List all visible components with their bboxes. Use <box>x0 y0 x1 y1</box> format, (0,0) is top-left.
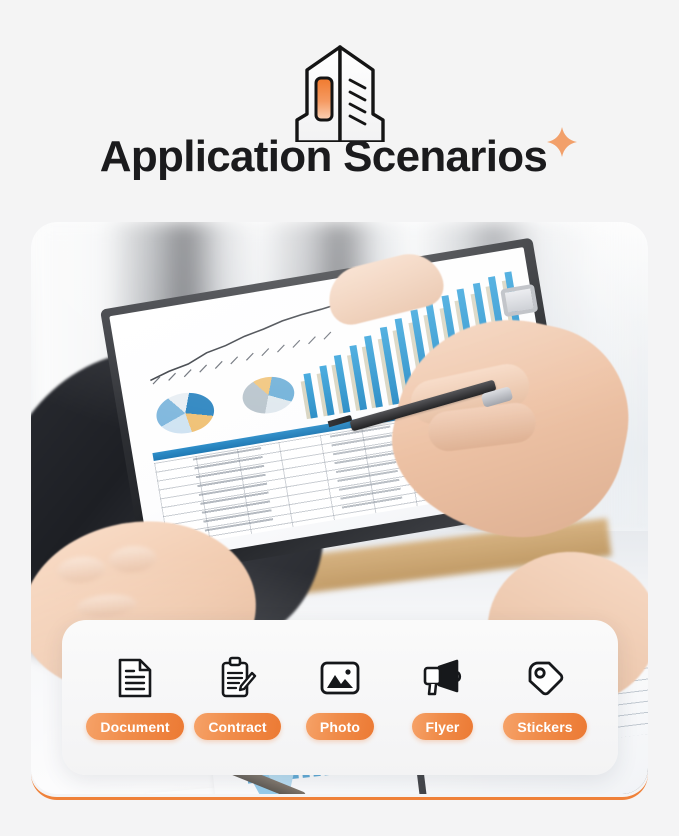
clipboard-pen-icon <box>219 655 257 701</box>
category-pill-stickers[interactable]: Stickers <box>503 713 586 740</box>
title-row: Application Scenarios <box>0 128 679 190</box>
header: Application Scenarios <box>0 0 679 210</box>
category-item-document[interactable]: Document <box>84 655 186 740</box>
category-item-photo[interactable]: Photo <box>289 655 391 740</box>
category-item-contract[interactable]: Contract <box>187 655 289 740</box>
image-icon <box>319 655 361 701</box>
category-pill-flyer[interactable]: Flyer <box>412 713 474 740</box>
building-icon <box>275 42 405 142</box>
clipboard-pie-chart-2 <box>240 373 297 417</box>
category-pill-document[interactable]: Document <box>86 713 183 740</box>
clipboard-table-column-1 <box>192 447 274 537</box>
category-item-stickers[interactable]: Stickers <box>494 655 596 740</box>
category-pill-photo[interactable]: Photo <box>306 713 374 740</box>
category-card: Document Contract Photo <box>62 620 618 775</box>
clipboard-pie-chart-1 <box>153 389 217 438</box>
sparkle-star-icon <box>545 125 579 159</box>
megaphone-icon <box>421 655 465 701</box>
scenario-photo-card: Document Contract Photo <box>31 222 648 794</box>
page-title: Application Scenarios <box>100 128 547 186</box>
category-pill-contract[interactable]: Contract <box>194 713 280 740</box>
building-logo <box>275 42 405 142</box>
category-item-flyer[interactable]: Flyer <box>392 655 494 740</box>
tag-icon <box>525 655 565 701</box>
document-icon <box>117 655 153 701</box>
main-clipboard-clamp-top <box>500 284 538 317</box>
